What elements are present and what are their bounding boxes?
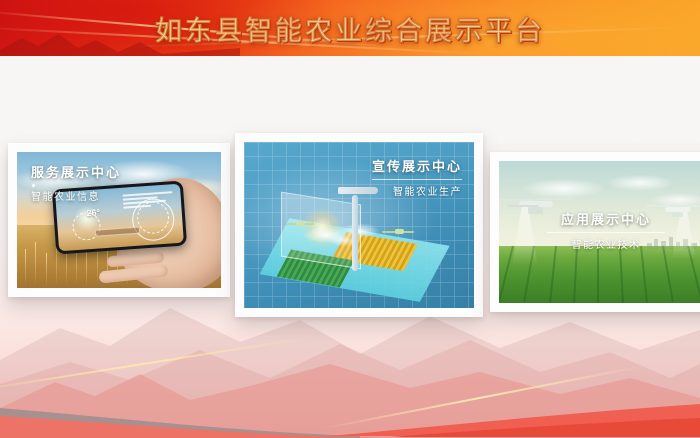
card-service-subtitle: 智能农业信息 bbox=[31, 188, 121, 203]
card-promotion-display-center[interactable]: 宣传展示中心 智能农业生产 bbox=[235, 133, 483, 317]
card-service-image: 26° 服务展示中心 智能农业信息 bbox=[17, 152, 221, 288]
caption-divider bbox=[547, 232, 665, 233]
card-application-display-center[interactable]: 应用展示中心 智能农业技术 bbox=[490, 152, 700, 312]
card-application-caption: 应用展示中心 智能农业技术 bbox=[499, 209, 700, 251]
card-application-title: 应用展示中心 bbox=[499, 209, 700, 228]
card-service-caption: 服务展示中心 智能农业信息 bbox=[31, 162, 121, 203]
cloud-illustration bbox=[295, 205, 401, 248]
caption-dot bbox=[32, 184, 35, 187]
header-banner: 如东县智能农业综合展示平台 bbox=[0, 0, 700, 56]
card-service-display-center[interactable]: 26° 服务展示中心 智能农业信息 bbox=[8, 143, 230, 297]
card-promotion-subtitle: 智能农业生产 bbox=[372, 183, 462, 198]
caption-divider bbox=[372, 179, 462, 180]
page-root: 如东县智能农业综合展示平台 bbox=[0, 0, 700, 438]
card-application-subtitle: 智能农业技术 bbox=[499, 236, 700, 251]
drone-right bbox=[387, 225, 411, 237]
ridge-red-right bbox=[0, 396, 700, 438]
page-title: 如东县智能农业综合展示平台 bbox=[0, 0, 700, 56]
card-promotion-image: 宣传展示中心 智能农业生产 bbox=[244, 142, 474, 308]
card-promotion-title: 宣传展示中心 bbox=[372, 156, 462, 175]
hud-panel bbox=[95, 226, 140, 236]
sensor-pole bbox=[352, 195, 358, 271]
card-application-image: 应用展示中心 智能农业技术 bbox=[499, 161, 700, 303]
drone-left bbox=[290, 218, 310, 228]
card-service-title: 服务展示中心 bbox=[31, 162, 121, 181]
card-promotion-caption: 宣传展示中心 智能农业生产 bbox=[372, 156, 462, 198]
